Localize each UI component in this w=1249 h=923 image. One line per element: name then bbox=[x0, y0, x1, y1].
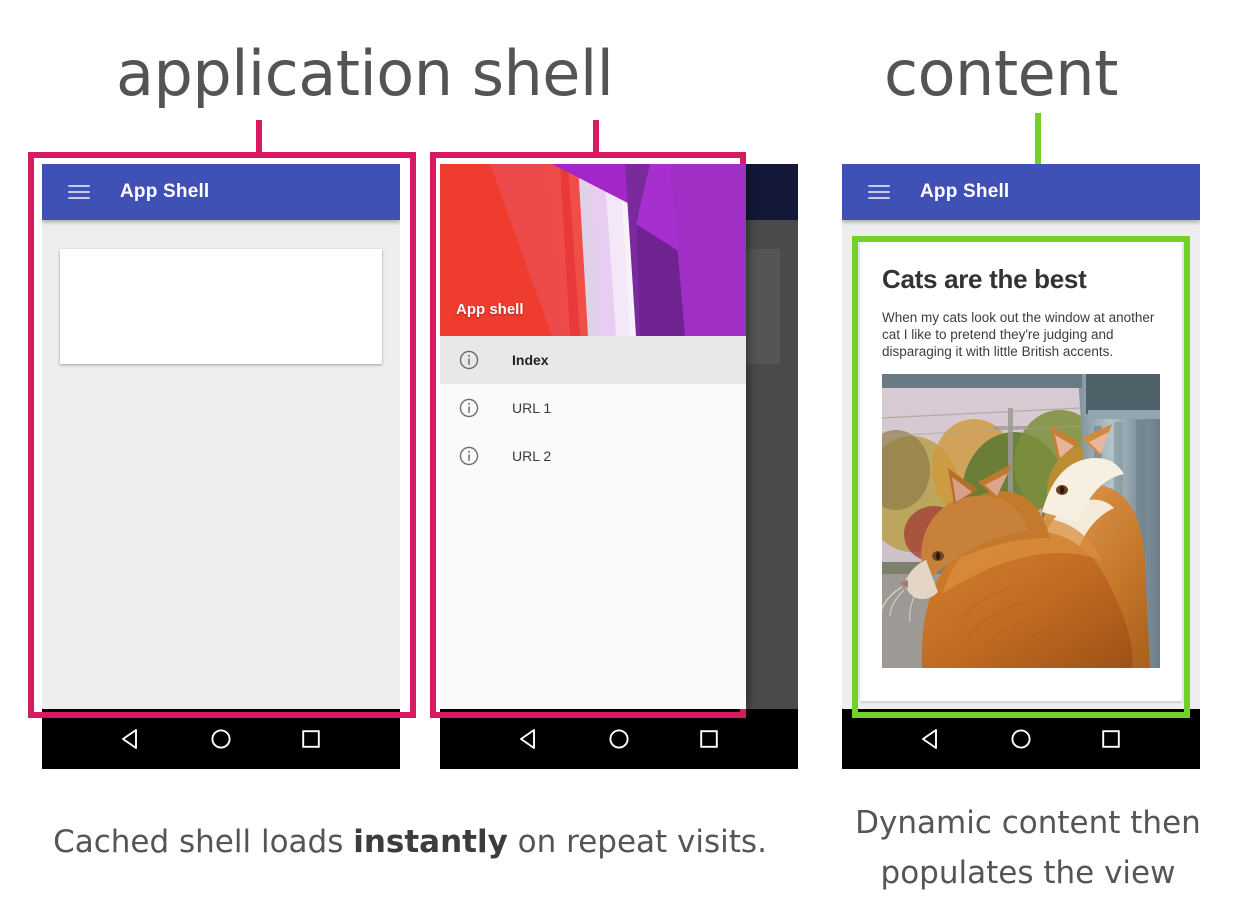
phone3-appbar: App Shell bbox=[842, 164, 1200, 220]
drawer-item-label: Index bbox=[512, 352, 549, 368]
back-triangle-icon[interactable] bbox=[919, 727, 943, 751]
phone3-article-card: Cats are the best When my cats look out … bbox=[860, 242, 1182, 701]
drawer-item-label: URL 2 bbox=[512, 448, 551, 464]
article-photo-cats bbox=[882, 374, 1160, 668]
drawer-header: App shell bbox=[440, 164, 746, 336]
caption-left: Cached shell loads instantly on repeat v… bbox=[0, 824, 820, 860]
info-icon bbox=[458, 397, 480, 419]
page-title-content: content bbox=[884, 38, 1118, 110]
drawer-item-index[interactable]: Index bbox=[440, 336, 746, 384]
article-body: When my cats look out the window at anot… bbox=[882, 309, 1160, 360]
caption-right-line1: Dynamic content then bbox=[828, 798, 1228, 848]
hamburger-icon[interactable] bbox=[868, 185, 890, 199]
recents-square-icon[interactable] bbox=[299, 727, 323, 751]
phone2-android-navbar bbox=[440, 709, 798, 769]
page-title-application-shell: application shell bbox=[116, 38, 613, 110]
phone-mockup-app-shell-empty: App Shell bbox=[42, 164, 400, 769]
phone-mockup-with-content: App Shell Cats are the best When my cats… bbox=[842, 164, 1200, 769]
caption-left-prefix: Cached shell loads bbox=[53, 824, 353, 860]
caption-right-line2: populates the view bbox=[828, 848, 1228, 898]
caption-left-suffix: on repeat visits. bbox=[508, 824, 767, 860]
phone1-android-navbar bbox=[42, 709, 400, 769]
info-icon bbox=[458, 349, 480, 371]
home-circle-icon[interactable] bbox=[607, 727, 631, 751]
phone3-screen: App Shell Cats are the best When my cats… bbox=[842, 164, 1200, 709]
phone1-appbar-title: App Shell bbox=[120, 181, 209, 203]
drawer-item-url-1[interactable]: URL 1 bbox=[440, 384, 746, 432]
recents-square-icon[interactable] bbox=[697, 727, 721, 751]
phone-mockup-app-shell-drawer: App Shell bbox=[440, 164, 798, 769]
article-title: Cats are the best bbox=[882, 264, 1160, 295]
drawer-item-url-2[interactable]: URL 2 bbox=[440, 432, 746, 480]
back-triangle-icon[interactable] bbox=[517, 727, 541, 751]
phone1-empty-content-card bbox=[60, 249, 382, 364]
phone3-appbar-title: App Shell bbox=[920, 181, 1009, 203]
back-triangle-icon[interactable] bbox=[119, 727, 143, 751]
hamburger-icon[interactable] bbox=[68, 185, 90, 199]
connector-line-app-shell-left bbox=[256, 120, 262, 155]
drawer-header-label: App shell bbox=[456, 301, 524, 318]
phone2-screen: App Shell bbox=[440, 164, 798, 709]
drawer-item-list: Index URL 1 URL 2 bbox=[440, 336, 746, 480]
connector-line-app-shell-right bbox=[593, 120, 599, 155]
drawer-item-label: URL 1 bbox=[512, 400, 551, 416]
phone1-appbar: App Shell bbox=[42, 164, 400, 220]
home-circle-icon[interactable] bbox=[209, 727, 233, 751]
home-circle-icon[interactable] bbox=[1009, 727, 1033, 751]
recents-square-icon[interactable] bbox=[1099, 727, 1123, 751]
info-icon bbox=[458, 445, 480, 467]
phone1-screen: App Shell bbox=[42, 164, 400, 709]
caption-right: Dynamic content then populates the view bbox=[828, 798, 1228, 898]
phone2-navigation-drawer: App shell Index URL 1 bbox=[440, 164, 746, 709]
phone3-android-navbar bbox=[842, 709, 1200, 769]
caption-left-bold: instantly bbox=[353, 824, 508, 860]
